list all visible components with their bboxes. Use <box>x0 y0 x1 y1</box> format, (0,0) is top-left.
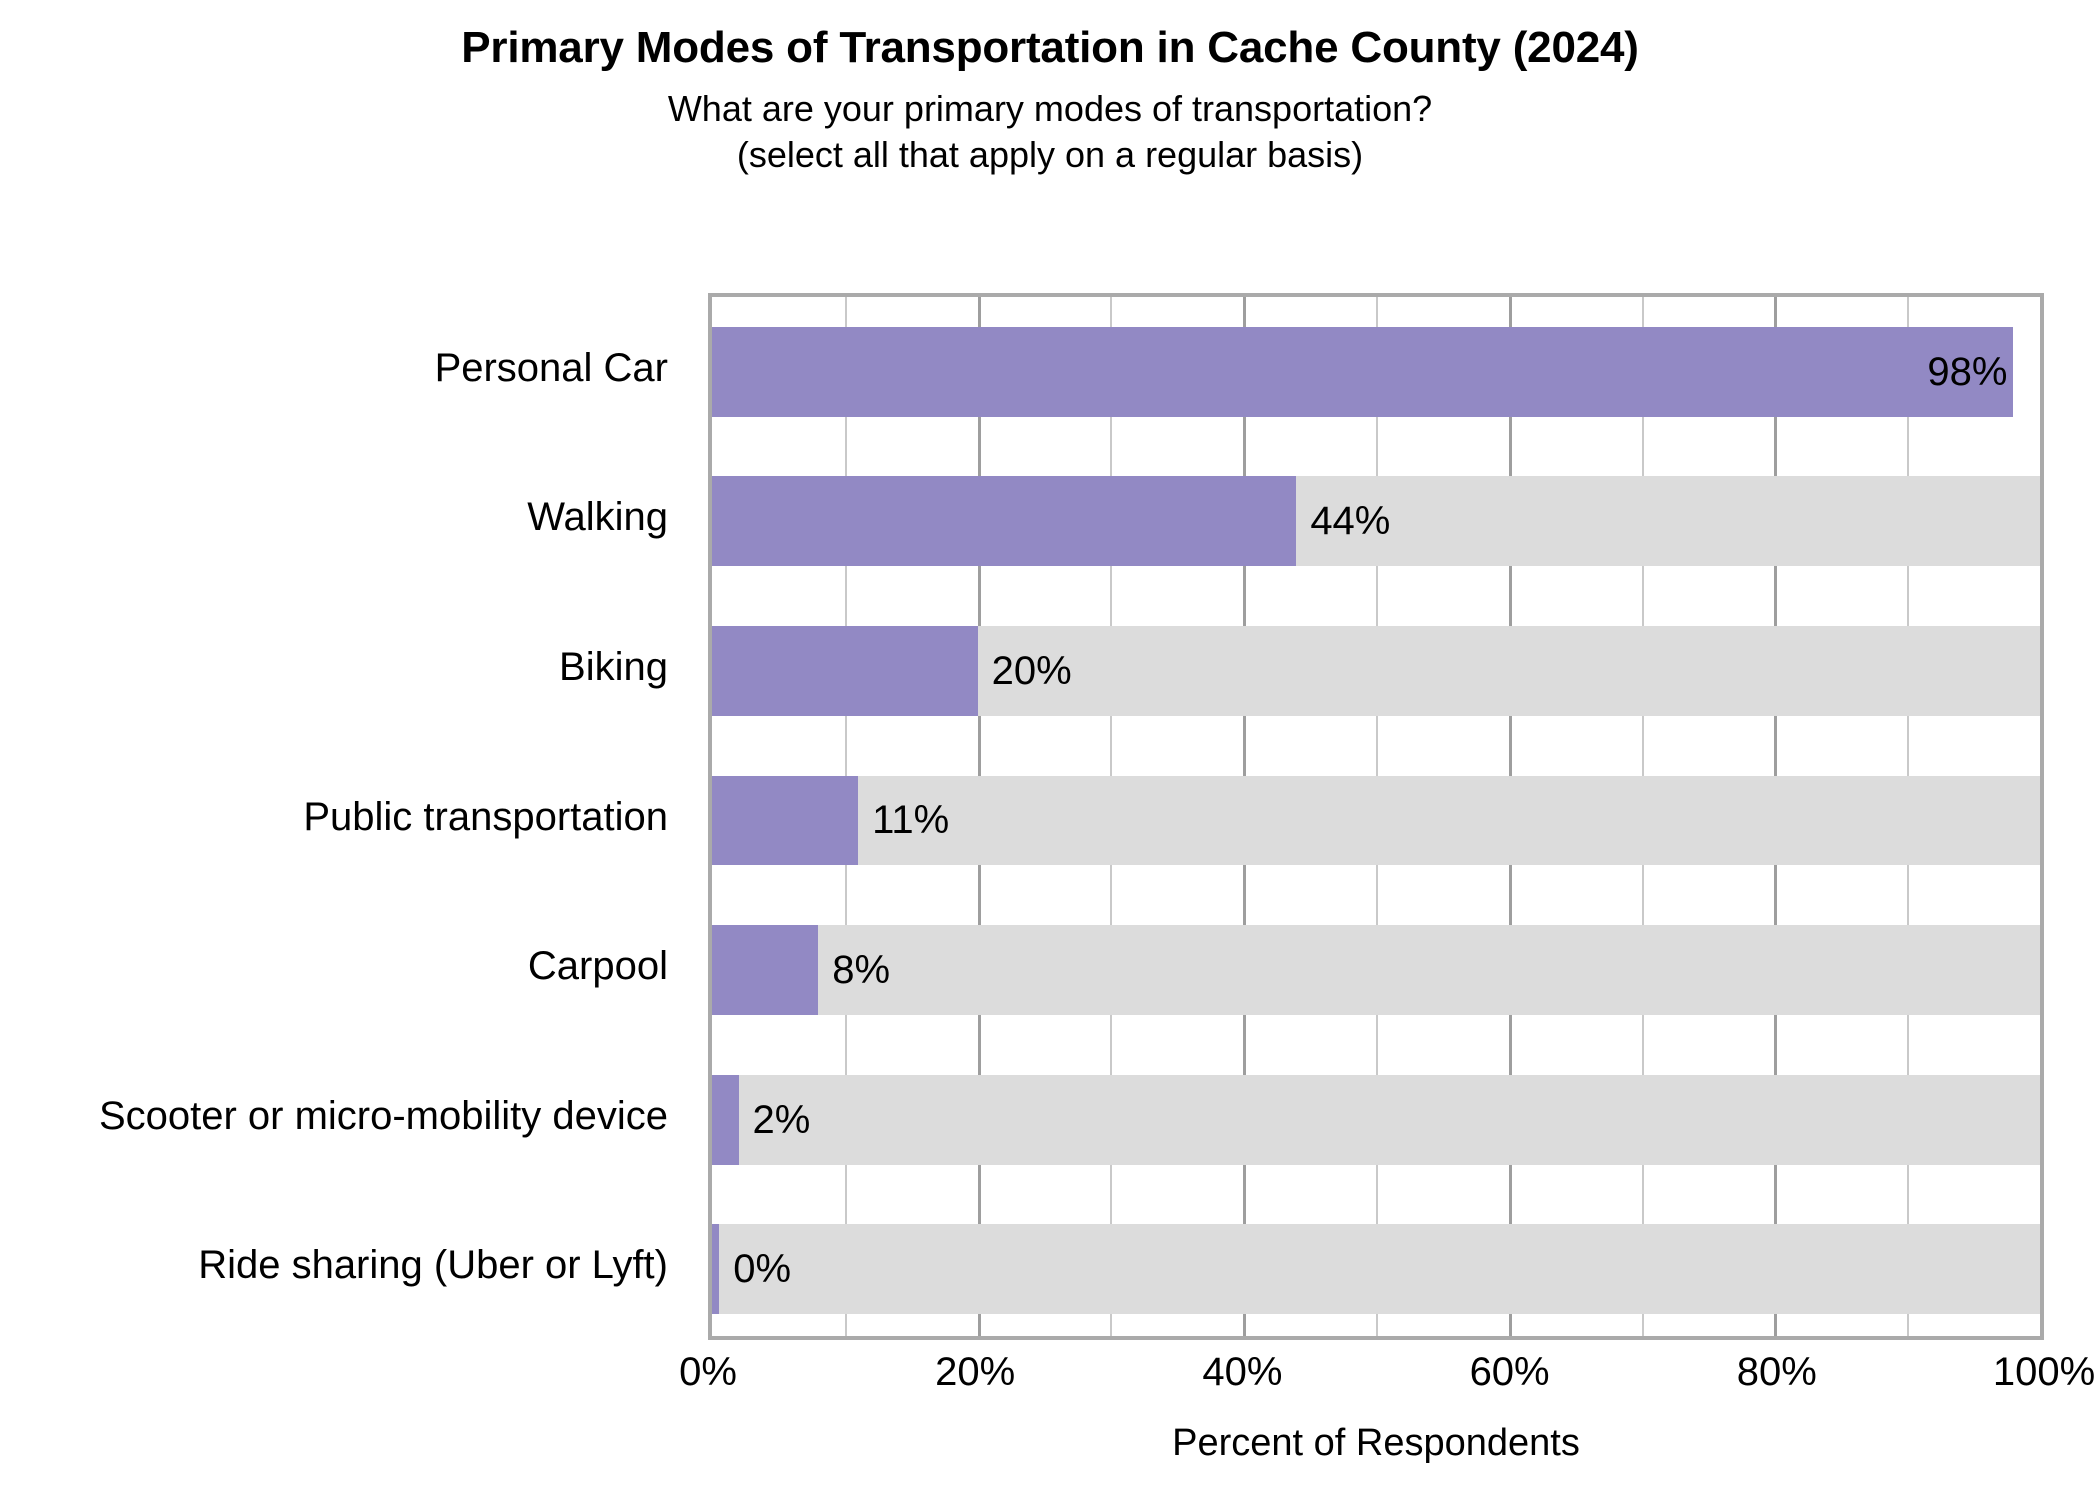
x-tick-0%: 0% <box>679 1352 737 1392</box>
y-axis-label-3: Public transportation <box>303 797 668 837</box>
chart-subtitle-line-2: (select all that apply on a regular basi… <box>0 132 2100 178</box>
chart-subtitle: What are your primary modes of transport… <box>0 86 2100 178</box>
bar-value-label: 2% <box>753 1100 811 1140</box>
y-axis-labels: Personal CarWalkingBikingPublic transpor… <box>0 293 690 1340</box>
y-axis-label-1: Walking <box>527 497 668 537</box>
bar-row: 11% <box>712 776 2040 866</box>
bar-row: 20% <box>712 626 2040 716</box>
bar-track <box>712 925 2040 1015</box>
bar-row: 2% <box>712 1075 2040 1165</box>
bar-value-label: 20% <box>992 651 1072 691</box>
bar-row: 8% <box>712 925 2040 1015</box>
x-tick-60%: 60% <box>1470 1352 1550 1392</box>
y-axis-label-5: Scooter or micro-mobility device <box>99 1096 668 1136</box>
bar-value-label: 0% <box>733 1249 791 1289</box>
bar-row: 0% <box>712 1224 2040 1314</box>
x-tick-80%: 80% <box>1737 1352 1817 1392</box>
x-axis-tick-labels: 0%20%40%60%80%100% <box>708 1352 2044 1412</box>
y-axis-label-6: Ride sharing (Uber or Lyft) <box>198 1245 668 1285</box>
x-tick-40%: 40% <box>1202 1352 1282 1392</box>
y-axis-label-4: Carpool <box>528 946 668 986</box>
bar-track <box>712 1075 2040 1165</box>
plot-area: 98%44%20%11%8%2%0% <box>708 293 2044 1340</box>
bar-fill[interactable] <box>712 1075 739 1165</box>
bar-fill[interactable] <box>712 1224 719 1314</box>
bar-fill[interactable] <box>712 925 818 1015</box>
x-tick-100%: 100% <box>1993 1352 2095 1392</box>
bar-fill[interactable] <box>712 327 2013 417</box>
bar-fill[interactable] <box>712 776 858 866</box>
bar-track <box>712 1224 2040 1314</box>
x-axis-title: Percent of Respondents <box>708 1424 2044 1462</box>
bar-value-label: 8% <box>832 950 890 990</box>
y-axis-label-0: Personal Car <box>435 348 668 388</box>
bar-value-label: 44% <box>1310 501 1390 541</box>
title-block: Primary Modes of Transportation in Cache… <box>0 22 2100 178</box>
chart-subtitle-line-1: What are your primary modes of transport… <box>0 86 2100 132</box>
bar-value-label: 98% <box>1927 352 2007 392</box>
bar-row: 98% <box>712 327 2040 417</box>
page-title: Primary Modes of Transportation in Cache… <box>0 22 2100 74</box>
bar-fill[interactable] <box>712 476 1296 566</box>
x-tick-20%: 20% <box>935 1352 1015 1392</box>
bar-value-label: 11% <box>872 800 949 840</box>
bar-row: 44% <box>712 476 2040 566</box>
chart-figure: Primary Modes of Transportation in Cache… <box>0 0 2100 1500</box>
plot-inner: 98%44%20%11%8%2%0% <box>712 297 2040 1336</box>
bar-fill[interactable] <box>712 626 978 716</box>
y-axis-label-2: Biking <box>559 647 668 687</box>
